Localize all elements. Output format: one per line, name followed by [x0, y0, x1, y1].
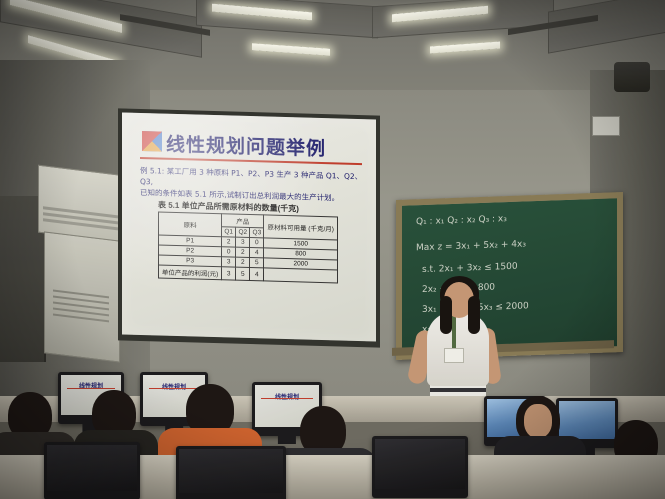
instructor-hair [440, 296, 452, 334]
monitor-slide-divider [261, 398, 312, 399]
monitor-screen [179, 449, 283, 493]
instructor-lanyard [452, 316, 456, 350]
monitor[interactable] [44, 442, 140, 499]
monitor-screen [47, 445, 137, 491]
blackboard-line: s.t. 2x₁ + 3x₂ ≤ 1500 [422, 262, 518, 275]
monitor-slide-divider [67, 388, 115, 389]
projection-screen-frame: 线性规划问题举例 例 5.1: 某工厂用 3 种原料 P1、P2、P3 生产 3… [118, 108, 380, 347]
ceiling-speaker [614, 62, 650, 92]
projection-screen: 线性规划问题举例 例 5.1: 某工厂用 3 种原料 P1、P2、P3 生产 3… [122, 112, 376, 341]
air-conditioner-column [44, 231, 120, 362]
classroom-photo: Q₁ : x₁ Q₂ : x₂ Q₃ : x₃ Max z = 3x₁ + 5x… [0, 0, 665, 499]
student-face [524, 404, 552, 438]
monitor[interactable] [176, 446, 286, 499]
monitor[interactable] [372, 436, 468, 498]
blackboard-line: Q₁ : x₁ Q₂ : x₂ Q₃ : x₃ [416, 214, 507, 227]
screen-glare [122, 112, 376, 341]
wall-control-box [592, 116, 620, 136]
blackboard-line: Max z = 3x₁ + 5x₂ + 4x₃ [416, 239, 526, 253]
monitor-stand [278, 436, 296, 444]
instructor-hair [468, 296, 480, 334]
monitor-slide-divider [149, 388, 199, 389]
instructor-badge [444, 348, 464, 363]
monitor-screen [559, 401, 615, 439]
monitor-screen [375, 439, 465, 489]
